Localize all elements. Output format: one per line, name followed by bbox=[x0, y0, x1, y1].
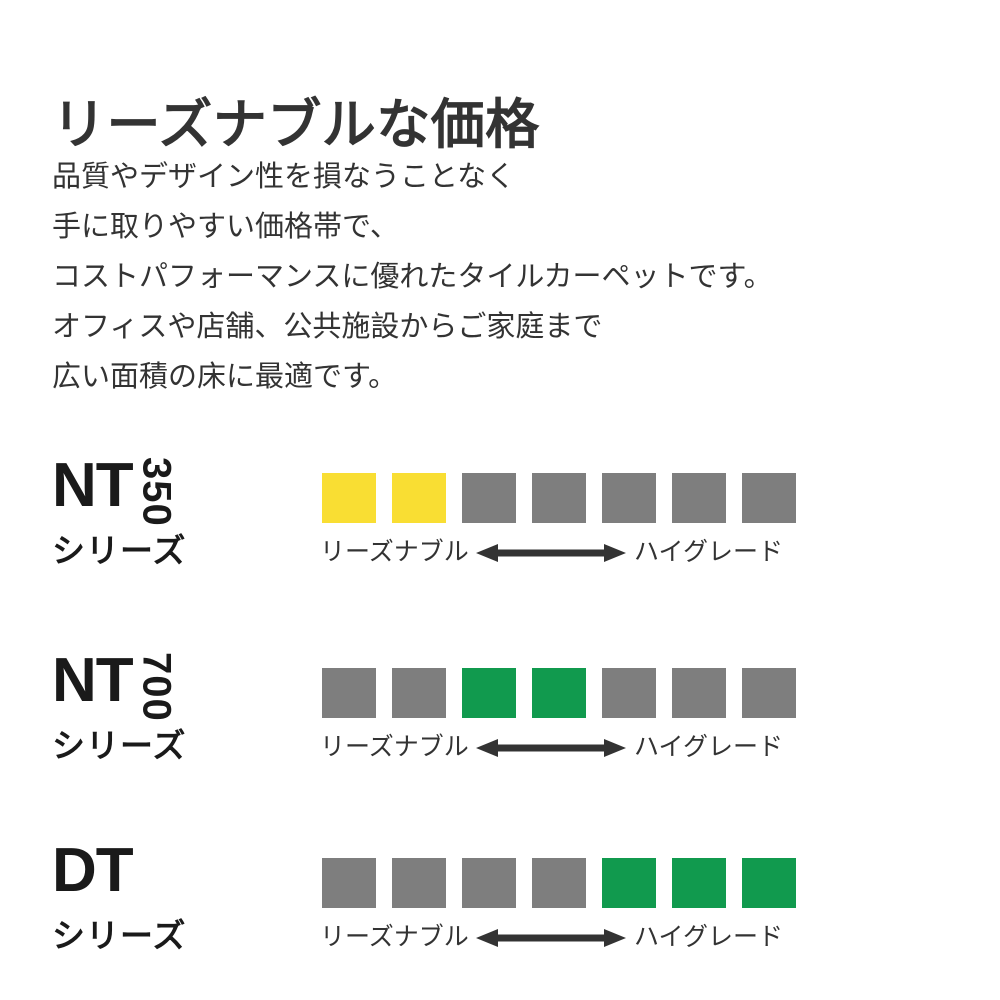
series-code-main: NT bbox=[52, 455, 133, 517]
description-line: 品質やデザイン性を損なうことなく bbox=[52, 152, 952, 202]
grade-scale: リーズナブル ハイグレード bbox=[322, 473, 802, 583]
series-label-dt: DT シリーズ bbox=[52, 840, 292, 980]
legend-high-label: ハイグレード bbox=[634, 535, 783, 569]
series-suffix: シリーズ bbox=[52, 726, 186, 766]
description-block: 品質やデザイン性を損なうことなく 手に取りやすい価格帯で、 コストパフォーマンス… bbox=[52, 152, 952, 402]
grade-scale: リーズナブル ハイグレード bbox=[322, 858, 802, 968]
legend-low-label: リーズナブル bbox=[320, 535, 469, 569]
description-line: オフィスや店舗、公共施設からご家庭まで bbox=[52, 302, 952, 352]
grade-swatch-3 bbox=[462, 668, 516, 718]
series-code: NT 350 bbox=[52, 455, 177, 527]
series-code-number: 700 bbox=[137, 652, 177, 716]
grade-swatch-3 bbox=[462, 473, 516, 523]
grade-swatch-4 bbox=[532, 473, 586, 523]
grade-swatch-5 bbox=[602, 473, 656, 523]
series-code-number: 350 bbox=[137, 457, 177, 521]
grade-swatch-6 bbox=[672, 668, 726, 718]
series-code-main: NT bbox=[52, 650, 133, 712]
series-suffix: シリーズ bbox=[52, 916, 186, 956]
grade-swatch-7 bbox=[742, 668, 796, 718]
series-label-nt700: NT 700 シリーズ bbox=[52, 650, 292, 790]
grade-swatch-5 bbox=[602, 858, 656, 908]
description-line: コストパフォーマンスに優れたタイルカーペットです。 bbox=[52, 252, 952, 302]
scale-legend: リーズナブル ハイグレード bbox=[322, 535, 792, 569]
page-title: リーズナブルな価格 bbox=[52, 94, 540, 156]
grade-swatch-5 bbox=[602, 668, 656, 718]
description-line: 手に取りやすい価格帯で、 bbox=[52, 202, 952, 252]
grade-swatch-6 bbox=[672, 473, 726, 523]
series-row: NT 700 シリーズ リーズナブル ハイグレード bbox=[0, 650, 1000, 790]
series-row: DT シリーズ リーズナブル ハイグレード bbox=[0, 840, 1000, 980]
series-code: DT bbox=[52, 840, 133, 912]
grade-swatch-7 bbox=[742, 473, 796, 523]
series-code-main: DT bbox=[52, 840, 133, 902]
grade-swatch-1 bbox=[322, 858, 376, 908]
grade-swatch-7 bbox=[742, 858, 796, 908]
series-row: NT 350 シリーズ リーズナブル ハイグレード bbox=[0, 455, 1000, 595]
grade-swatch-2 bbox=[392, 858, 446, 908]
swatch-strip bbox=[322, 668, 796, 718]
scale-legend: リーズナブル ハイグレード bbox=[322, 920, 792, 954]
description-line: 広い面積の床に最適です。 bbox=[52, 352, 952, 402]
grade-swatch-2 bbox=[392, 473, 446, 523]
series-label-nt350: NT 350 シリーズ bbox=[52, 455, 292, 595]
legend-low-label: リーズナブル bbox=[320, 730, 469, 764]
double-arrow-icon bbox=[476, 928, 626, 948]
swatch-strip bbox=[322, 858, 796, 908]
legend-low-label: リーズナブル bbox=[320, 920, 469, 954]
series-suffix: シリーズ bbox=[52, 531, 186, 571]
series-code: NT 700 bbox=[52, 650, 177, 722]
grade-swatch-3 bbox=[462, 858, 516, 908]
double-arrow-icon bbox=[476, 738, 626, 758]
grade-swatch-1 bbox=[322, 473, 376, 523]
legend-high-label: ハイグレード bbox=[634, 730, 783, 764]
grade-swatch-2 bbox=[392, 668, 446, 718]
grade-scale: リーズナブル ハイグレード bbox=[322, 668, 802, 778]
grade-swatch-1 bbox=[322, 668, 376, 718]
promo-panel: リーズナブルな価格 品質やデザイン性を損なうことなく 手に取りやすい価格帯で、 … bbox=[0, 0, 1000, 1000]
grade-swatch-4 bbox=[532, 858, 586, 908]
double-arrow-icon bbox=[476, 543, 626, 563]
swatch-strip bbox=[322, 473, 796, 523]
grade-swatch-4 bbox=[532, 668, 586, 718]
legend-high-label: ハイグレード bbox=[634, 920, 783, 954]
grade-swatch-6 bbox=[672, 858, 726, 908]
scale-legend: リーズナブル ハイグレード bbox=[322, 730, 792, 764]
